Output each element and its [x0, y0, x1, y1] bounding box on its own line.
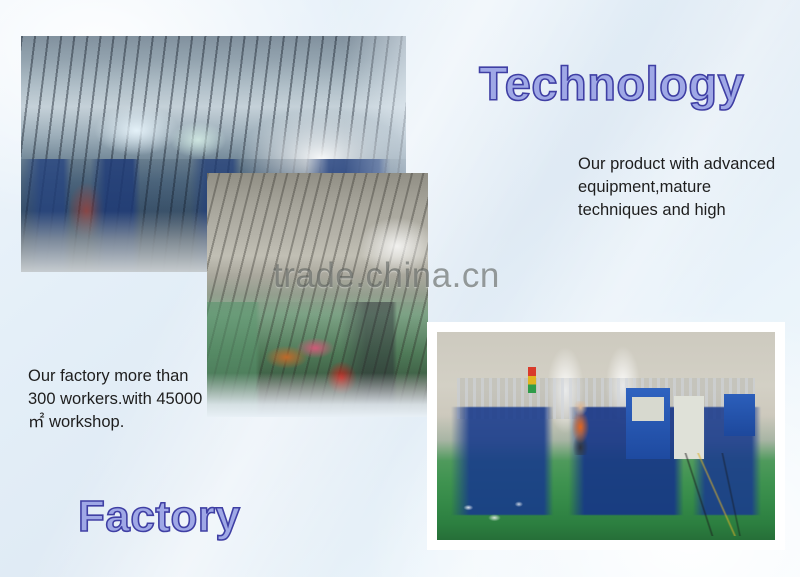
photo-machines [427, 322, 785, 550]
photo-machines-image [437, 332, 775, 540]
floor-cables-shape [633, 453, 775, 536]
promo-banner: Technology Factory Our product with adva… [0, 0, 800, 577]
control-panel-c-shape [724, 394, 754, 436]
title-technology: Technology [479, 56, 744, 111]
photo-fade-bottom [207, 373, 428, 417]
control-panel-a-shape [626, 388, 670, 459]
caption-technology: Our product with advanced equipment,matu… [578, 153, 793, 222]
title-factory: Factory [78, 492, 240, 542]
operator-figure-shape [572, 401, 589, 455]
photo-corridor [207, 173, 428, 417]
caption-factory: Our factory more than 300 workers.with 4… [28, 365, 218, 434]
signal-tower-light-shape [528, 367, 536, 393]
photo-corridor-image [207, 173, 428, 417]
control-panel-b-shape [674, 396, 704, 458]
floor-debris-shape [451, 494, 539, 527]
